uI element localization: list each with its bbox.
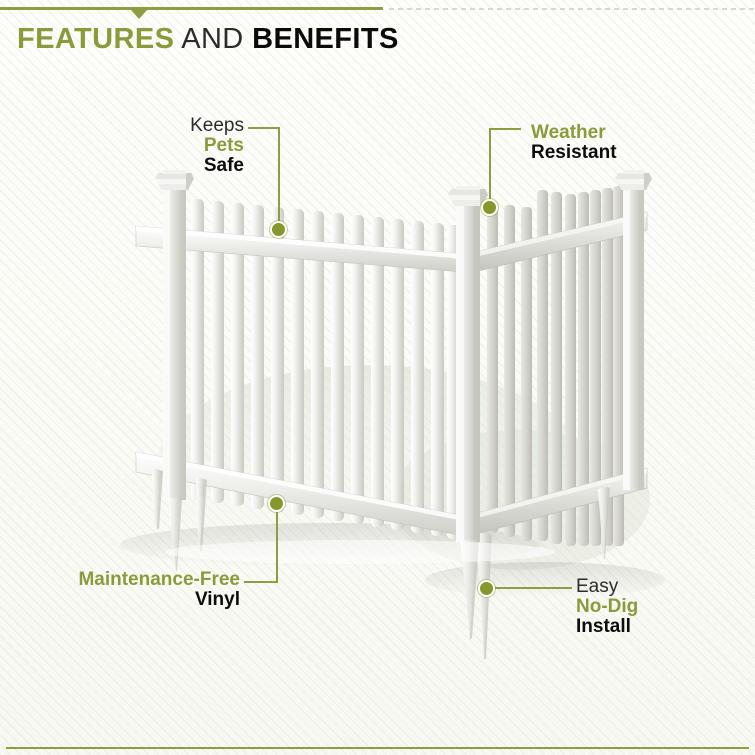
callout-line-2: Pets bbox=[64, 136, 244, 156]
callout-leader-horizontal bbox=[248, 127, 280, 129]
callout-leader-horizontal bbox=[244, 581, 278, 583]
callout-dot-maintenance-free-vinyl[interactable] bbox=[268, 495, 285, 512]
callout-line-3: Vinyl bbox=[40, 590, 240, 610]
callout-line-2: Weather bbox=[531, 123, 617, 143]
callout-text-keeps-pets-safe: Keeps Pets Safe bbox=[64, 116, 244, 176]
callout-line-3: Resistant bbox=[531, 143, 617, 163]
callout-line-2: No-Dig bbox=[576, 597, 638, 617]
callout-leader-horizontal bbox=[489, 128, 521, 130]
callout-line-1: Keeps bbox=[64, 116, 244, 136]
callout-leader-vertical bbox=[276, 505, 278, 583]
callout-text-maintenance-free-vinyl: Maintenance-Free Vinyl bbox=[40, 570, 240, 610]
callout-dot-weather-resistant[interactable] bbox=[481, 199, 498, 216]
infographic-page: FEATURES AND BENEFITS bbox=[0, 0, 755, 755]
callout-dot-easy-no-dig-install[interactable] bbox=[478, 580, 495, 597]
callout-line-3: Safe bbox=[64, 156, 244, 176]
callout-text-weather-resistant: Weather Resistant bbox=[531, 123, 617, 163]
callout-text-easy-no-dig-install: Easy No-Dig Install bbox=[576, 577, 638, 637]
callout-leader-vertical bbox=[489, 128, 491, 208]
footer-accent-rule bbox=[6, 747, 749, 749]
callout-leader-vertical bbox=[278, 127, 280, 230]
fence-illustration bbox=[0, 0, 755, 755]
callout-line-2: Maintenance-Free bbox=[40, 570, 240, 590]
callout-line-3: Install bbox=[576, 617, 638, 637]
callout-dot-keeps-pets-safe[interactable] bbox=[270, 221, 287, 238]
callout-line-1: Easy bbox=[576, 577, 638, 597]
callout-leader-horizontal bbox=[493, 587, 572, 589]
